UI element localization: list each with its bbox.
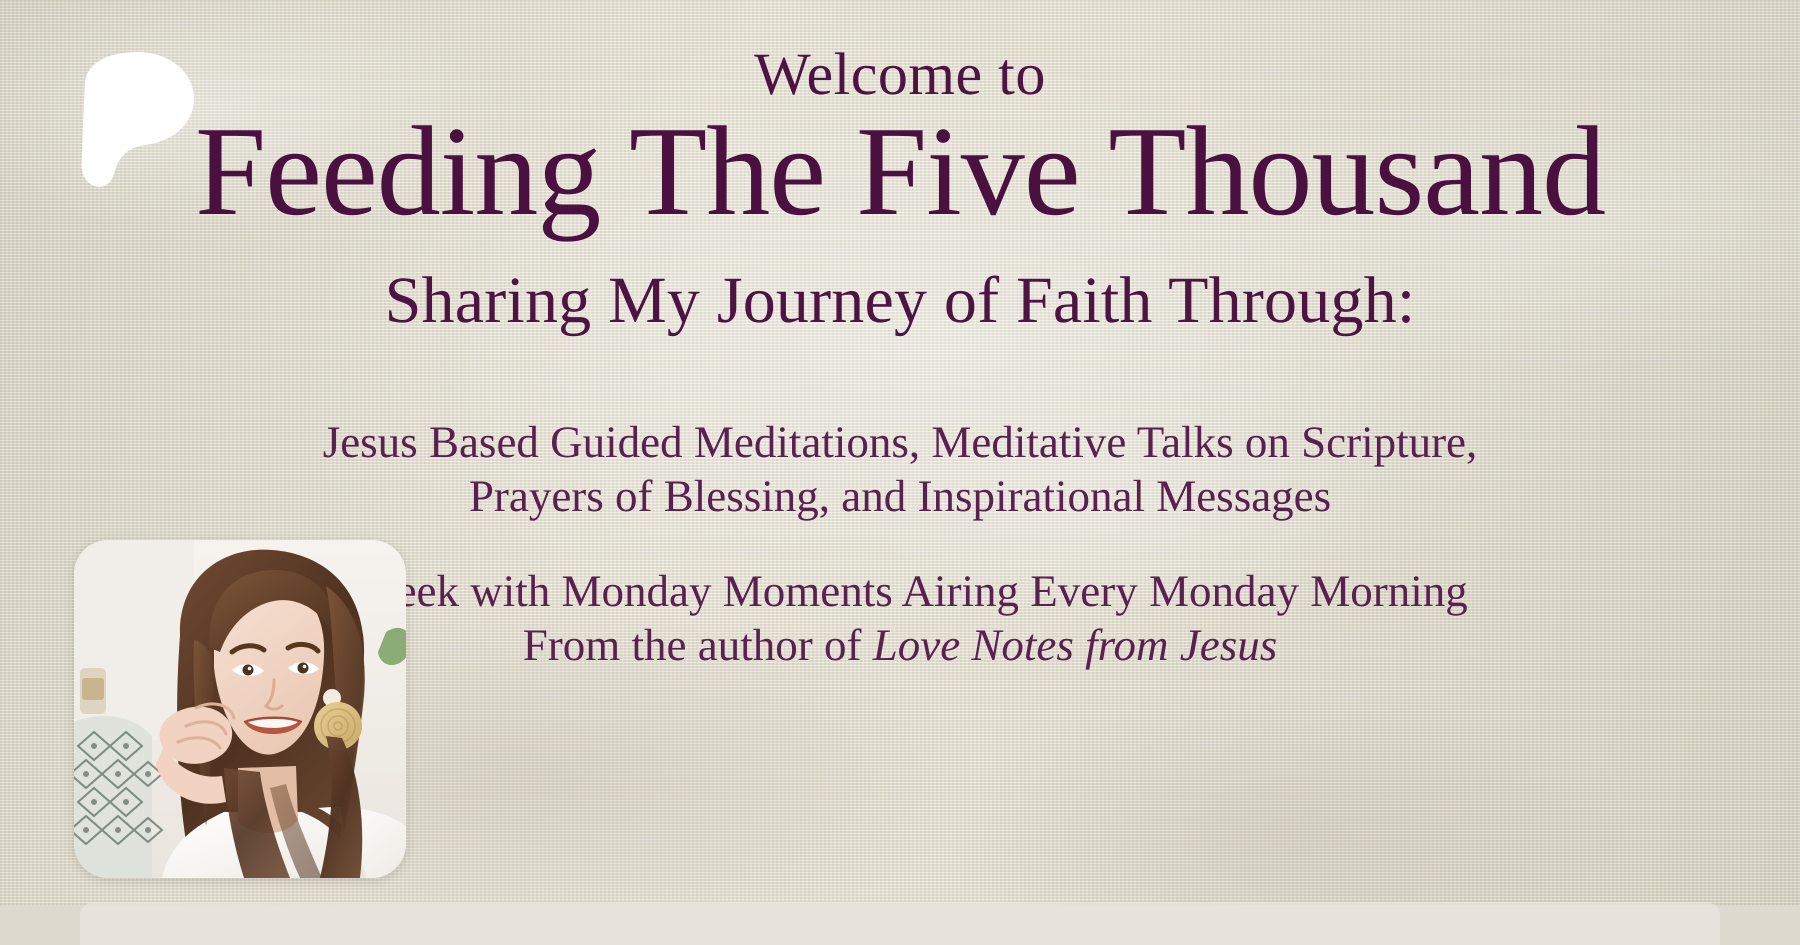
patreon-logo-icon[interactable] (78, 50, 196, 190)
cover-welcome-label: Welcome to (0, 44, 1800, 104)
cover-offerings-line-2: Prayers of Blessing, and Inspirational M… (0, 471, 1800, 521)
cover-offerings-line-1: Jesus Based Guided Meditations, Meditati… (0, 417, 1800, 467)
avatar[interactable] (74, 540, 406, 878)
cover-title: Feeding The Five Thousand (0, 104, 1800, 238)
cover-subtitle: Sharing My Journey of Faith Through: (0, 265, 1800, 336)
cover-author-book-title: Love Notes from Jesus (873, 620, 1278, 670)
cover-author-prefix: From the author of (523, 620, 873, 670)
patreon-creator-page: Welcome to Feeding The Five Thousand Sha… (0, 0, 1800, 945)
content-card-top-edge (80, 902, 1720, 945)
